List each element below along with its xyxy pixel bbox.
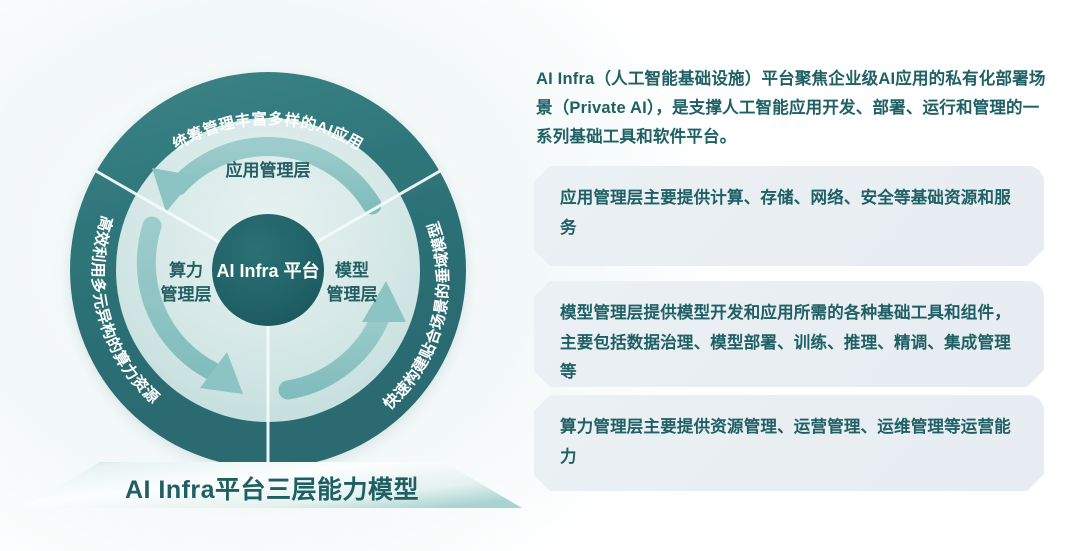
intro-paragraph: AI Infra（人工智能基础设施）平台聚焦企业级AI应用的私有化部署场景（Pr… <box>536 65 1048 152</box>
banner-text-wrap: AI Infra平台三层能力模型 <box>22 462 522 508</box>
layer-label-model-line1: 模型 <box>335 260 369 280</box>
info-card-model-layer-text: 模型管理层提供模型开发和应用所需的各种基础工具和组件，主要包括数据治理、模型部署… <box>560 299 1020 388</box>
layer-label-application: 应用管理层 <box>226 160 311 180</box>
banner-title-plate: AI Infra平台三层能力模型 <box>22 462 522 508</box>
info-card-application-layer: 应用管理层主要提供计算、存储、网络、安全等基础资源和服务 <box>534 166 1044 266</box>
layer-label-model-line2: 管理层 <box>327 284 378 304</box>
infographic-root: 统筹管理丰富多样的AI应用 高效利用多元异构的算力资源 快速构建贴合场景的垂域模… <box>0 0 1080 551</box>
info-card-model-layer: 模型管理层提供模型开发和应用所需的各种基础工具和组件，主要包括数据治理、模型部署… <box>534 281 1044 387</box>
info-card-compute-layer: 算力管理层主要提供资源管理、运营管理、运维管理等运营能力 <box>534 395 1044 491</box>
layer-label-compute-line2: 管理层 <box>161 284 212 304</box>
description-column: AI Infra（人工智能基础设施）平台聚焦企业级AI应用的私有化部署场景（Pr… <box>534 0 1080 551</box>
info-card-application-layer-text: 应用管理层主要提供计算、存储、网络、安全等基础资源和服务 <box>560 184 1020 243</box>
info-card-compute-layer-text: 算力管理层主要提供资源管理、运营管理、运维管理等运营能力 <box>560 413 1020 472</box>
layer-label-compute-line1: 算力 <box>168 260 203 280</box>
three-layer-capability-diagram: 统筹管理丰富多样的AI应用 高效利用多元异构的算力资源 快速构建贴合场景的垂域模… <box>0 0 540 551</box>
banner-title-text: AI Infra平台三层能力模型 <box>125 470 419 506</box>
center-platform-label: AI Infra 平台 <box>216 260 319 281</box>
